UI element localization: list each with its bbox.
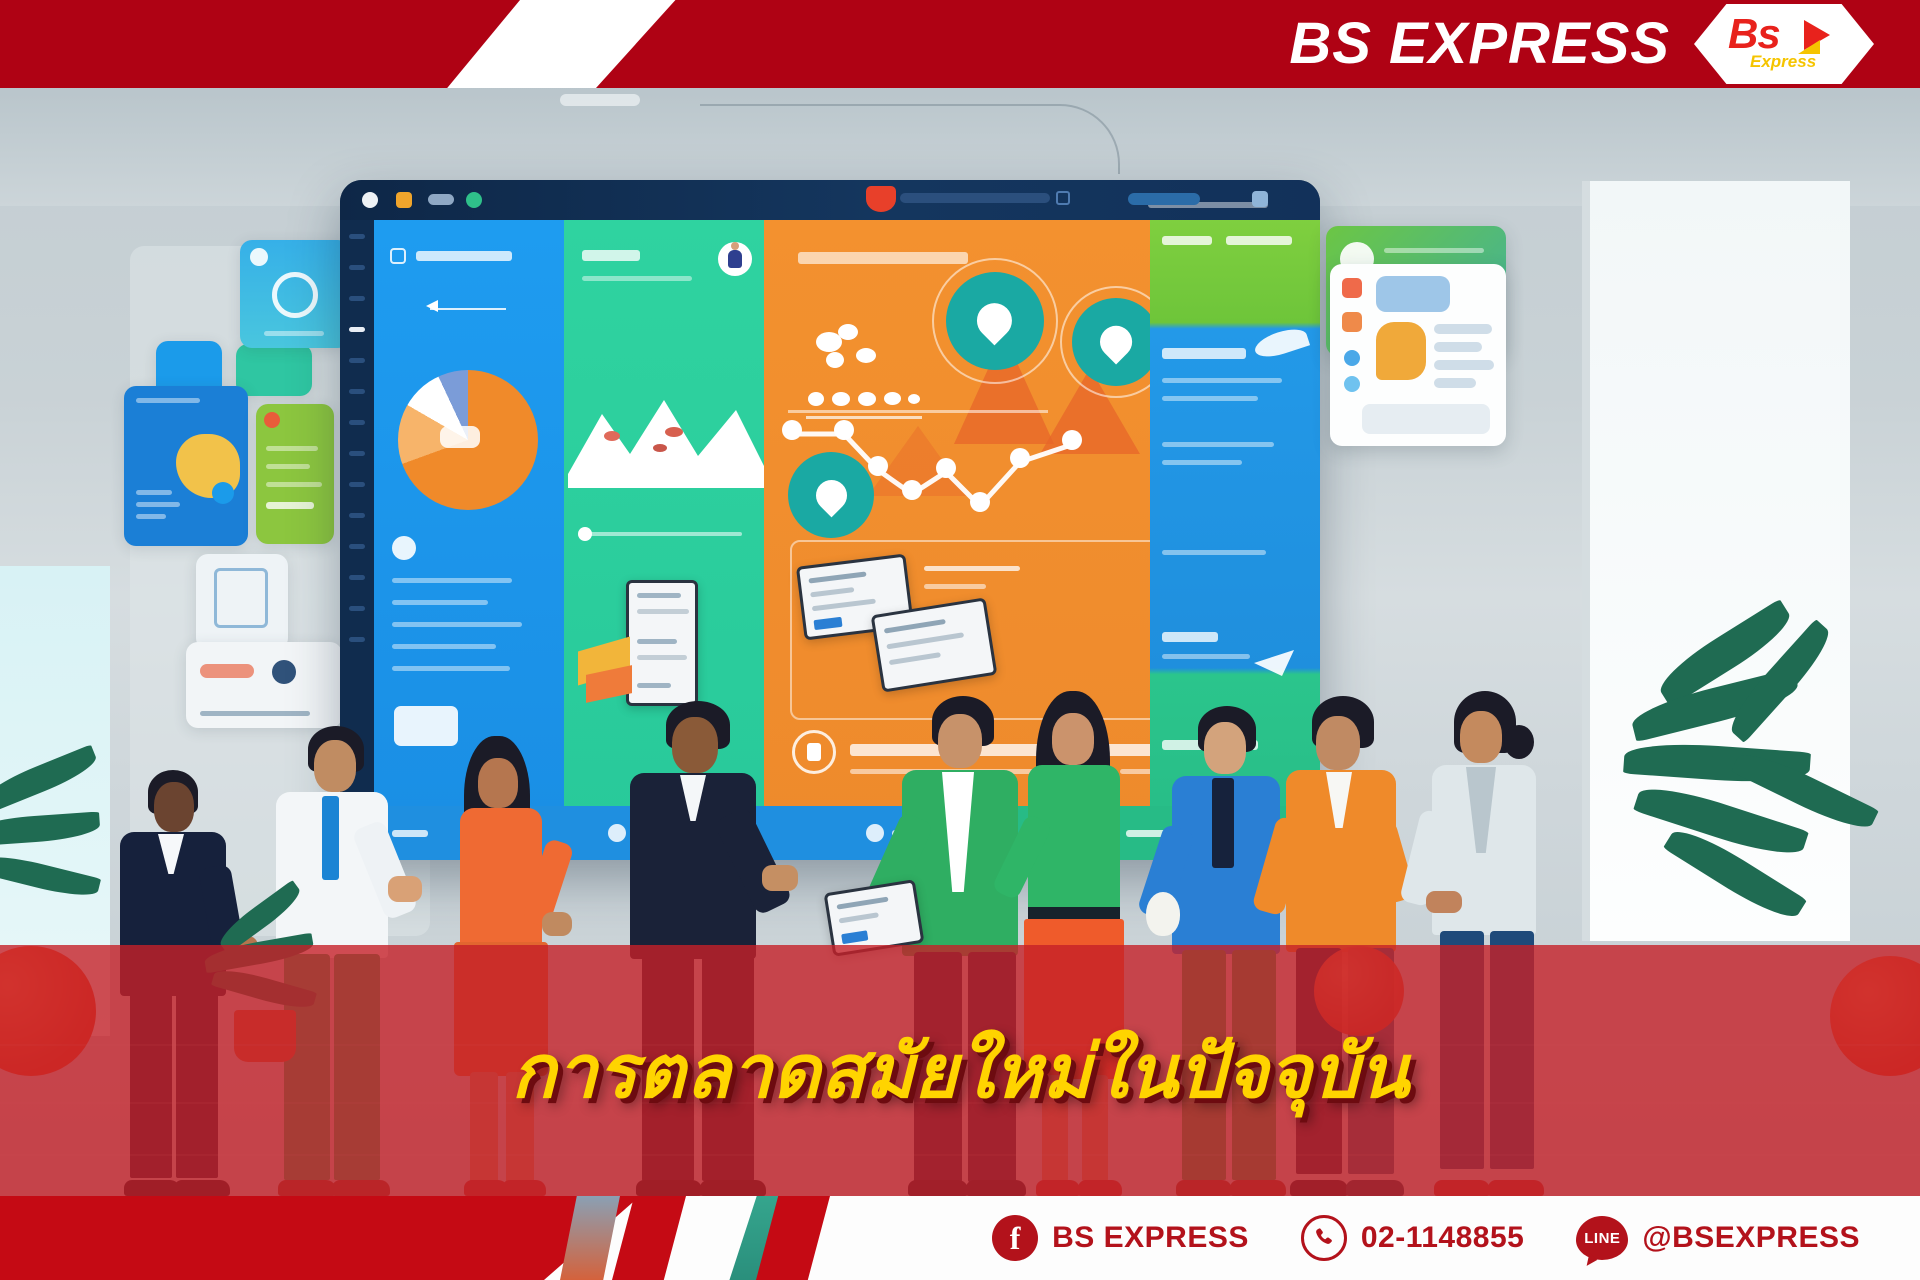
phone-label: 02-1148855 — [1361, 1221, 1525, 1255]
contact-line[interactable]: LINE @BSEXPRESS — [1576, 1216, 1860, 1260]
pie-chart-label — [440, 426, 480, 448]
facebook-label: BS EXPRESS — [1052, 1221, 1249, 1255]
floating-panel-message-list — [1330, 264, 1506, 446]
wall-card-white-wide — [186, 642, 342, 728]
line-icon: LINE — [1576, 1216, 1628, 1260]
contact-facebook[interactable]: f BS EXPRESS — [992, 1215, 1249, 1261]
brand-title: BS EXPRESS — [1289, 6, 1670, 82]
promo-banner: การตลาดสมัยใหม่ในปัจจุบัน BS EXPRESS Bs … — [0, 0, 1920, 1280]
line-label: @BSEXPRESS — [1642, 1221, 1860, 1255]
wall-card-photo — [240, 240, 350, 348]
bs-express-logo[interactable]: Bs Express — [1694, 4, 1874, 84]
contact-phone[interactable]: 02-1148855 — [1301, 1215, 1525, 1261]
window-frame — [1582, 181, 1590, 941]
hexagon-shape — [1694, 4, 1874, 84]
ceiling-light — [560, 94, 640, 106]
header-bar: BS EXPRESS Bs Express — [0, 0, 1920, 88]
logo-mark-text: Bs — [1728, 10, 1780, 58]
footer-red-block — [0, 1196, 640, 1280]
phone-icon — [1301, 1215, 1347, 1261]
wall-card-blue-chart — [124, 386, 248, 546]
footer-contact-list: f BS EXPRESS 02-1148855 LINE @BSEXPRESS — [992, 1196, 1860, 1280]
line-chart — [568, 370, 764, 490]
facebook-icon: f — [992, 1215, 1038, 1261]
ceiling-wire — [700, 104, 1120, 174]
play-badge-large — [946, 272, 1044, 370]
wall-card-green-list — [256, 404, 334, 544]
avatar — [718, 242, 752, 276]
footer-bar: f BS EXPRESS 02-1148855 LINE @BSEXPRESS — [0, 1196, 1920, 1280]
play-badge-medium — [1072, 298, 1150, 386]
header-right-shape: BS EXPRESS Bs Express — [596, 0, 1920, 88]
screen-toolbar — [340, 180, 1320, 220]
wall-card-teal-small — [236, 344, 312, 396]
logo-sub-text: Express — [1750, 52, 1816, 72]
line-icon-word: LINE — [1584, 1230, 1620, 1247]
report-card — [626, 580, 698, 706]
wall-card-white-device — [196, 554, 288, 650]
page-title: การตลาดสมัยใหม่ในปัจจุบัน — [0, 1012, 1920, 1130]
header-left-shape — [0, 0, 520, 88]
